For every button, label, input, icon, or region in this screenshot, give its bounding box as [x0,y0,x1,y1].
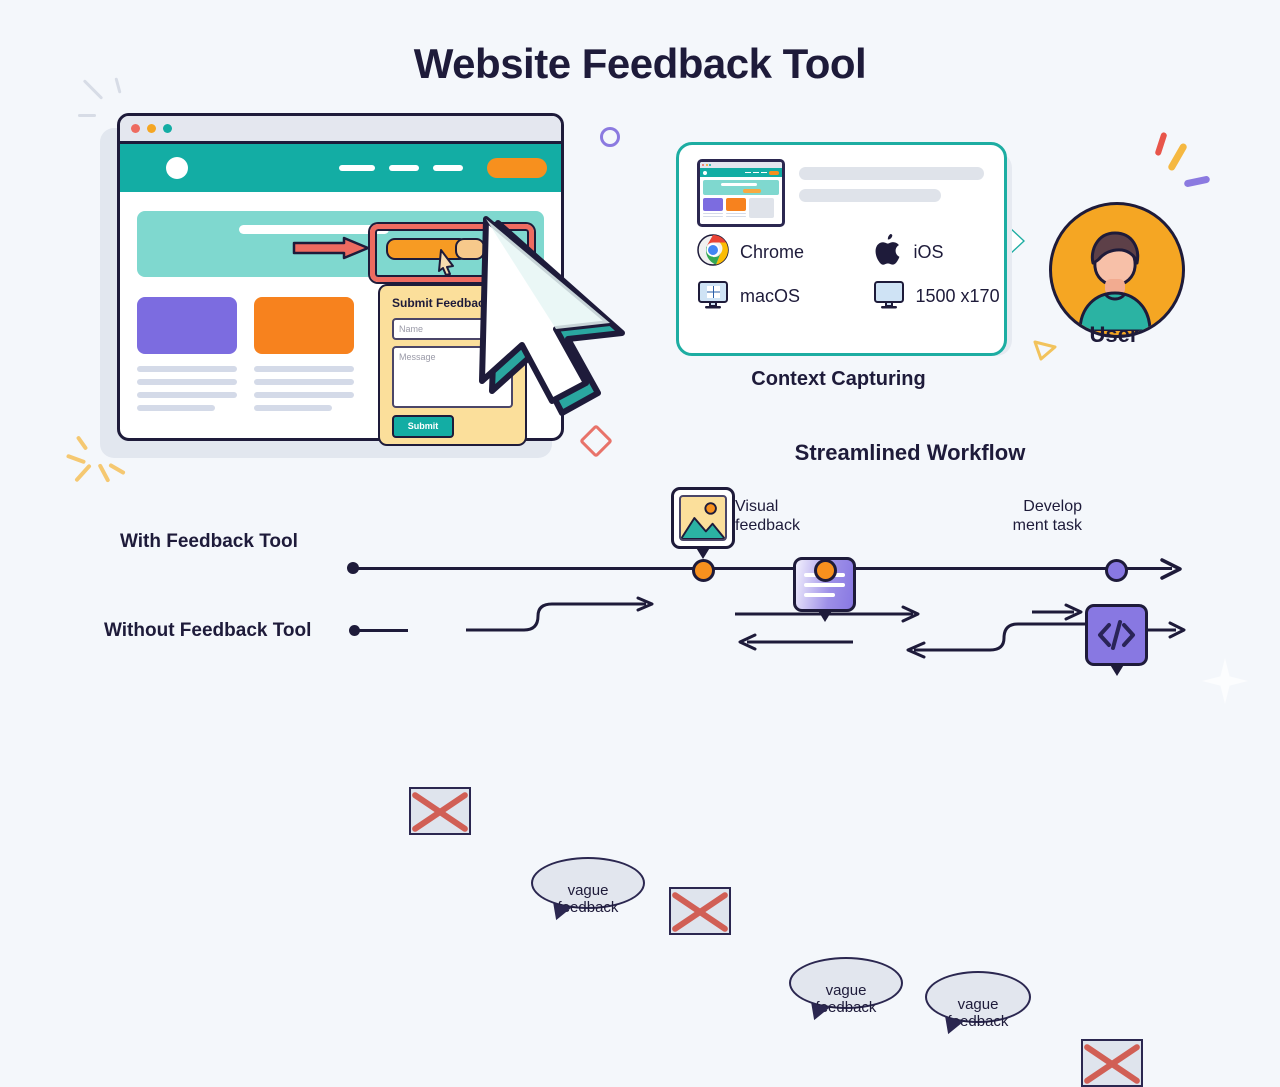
without-tool-arrow-right [735,605,925,628]
context-item-ios: iOS [853,233,1005,272]
thumb-cta [769,171,779,175]
traffic-light-minimize[interactable] [147,124,156,133]
thumb-nav-link [761,172,767,174]
text-line [254,366,354,372]
chrome-icon [697,234,729,271]
text-column [254,366,354,411]
thumb-dot [702,164,704,166]
page-title: Website Feedback Tool [0,40,1280,88]
nav-cta-button[interactable] [487,158,547,178]
image-icon [681,497,725,539]
thumb-line [726,213,746,215]
nav-link[interactable] [433,165,463,171]
context-item-resolution: 1500 x170 [853,278,1005,315]
thumb-card [703,198,723,211]
site-card-orange [254,297,354,354]
without-tool-segment [358,629,408,632]
thumb-hero-pill [743,189,761,193]
thumb-card [726,198,746,211]
hero-headline-placeholder [239,225,389,234]
traffic-light-close[interactable] [131,124,140,133]
development-task-node[interactable] [1085,604,1148,666]
vague-feedback-bubble: vague feedback [789,957,903,1009]
visual-feedback-node[interactable] [671,487,735,549]
context-card-preview-row [679,145,1004,227]
placeholder-bar [799,189,941,202]
context-item-label: macOS [740,286,800,307]
without-tool-arrow-left [735,633,855,656]
context-item-macos: macOS [697,278,849,315]
vague-feedback-bubble: vague feedback [531,857,645,909]
thumb-hero-line [721,183,757,186]
timeline-dot-comment[interactable] [814,559,837,582]
context-capturing-card: Chrome iOS [676,142,1007,356]
without-tool-connector [466,596,666,647]
thumb-nav-link [753,172,759,174]
attention-arrow-icon [292,236,370,260]
text-line [137,392,237,398]
timeline-arrowhead [1160,556,1186,587]
confetti-topright [1150,130,1220,200]
site-card-purple [137,297,237,354]
nav-link[interactable] [339,165,375,171]
timeline-dot-visual-feedback[interactable] [692,559,715,582]
star-decoration [1202,658,1248,704]
thumb-dot [706,164,708,166]
thumb-card [749,198,774,218]
workflow-title: Streamlined Workflow [700,440,1120,466]
text-line [254,405,332,411]
screenshot-thumbnail [697,159,785,227]
thumb-navbar [700,168,782,177]
without-tool-final-arrow [1146,620,1190,645]
apple-icon [873,233,903,272]
text-column [137,366,237,411]
placeholder-bar [799,167,984,180]
text-line [137,379,237,385]
cursor-arrow-icon [440,215,640,430]
context-item-label: 1500 x170 [916,286,1000,307]
thumb-line [726,216,746,218]
bubble-tail [549,903,571,923]
browser-chrome-bar [120,116,561,144]
text-line [137,366,237,372]
site-nav-links [339,158,547,178]
timeline-dot-development-task[interactable] [1105,559,1128,582]
broken-email-icon [669,887,731,935]
development-task-caption: Develop ment task [1000,497,1082,535]
user-label: User [1049,322,1179,348]
context-item-label: iOS [914,242,944,263]
thumb-hero [703,180,779,195]
code-icon [1088,607,1145,663]
bubble-tail [807,1003,829,1023]
broken-email-icon [409,787,471,835]
context-card-caption: Context Capturing [676,368,1001,391]
bubble-tail [941,1017,963,1037]
thumb-nav-links [745,171,779,175]
vague-feedback-bubble: vague feedback [925,971,1031,1023]
windows-icon [697,278,729,315]
with-tool-row-label: With Feedback Tool [120,531,298,553]
thumb-logo [703,171,707,175]
site-logo [166,157,188,179]
text-line [254,379,354,385]
nav-link[interactable] [389,165,419,171]
traffic-light-maximize[interactable] [163,124,172,133]
context-meta-grid: Chrome iOS [679,227,1004,315]
context-item-chrome: Chrome [697,233,849,272]
avatar [1049,202,1185,338]
broken-email-icon [1081,1039,1143,1087]
text-line [254,392,354,398]
thumb-line [703,216,723,218]
without-tool-return-connector [900,620,1090,665]
monitor-icon [873,278,905,315]
visual-feedback-caption: Visual feedback [735,497,797,535]
thumb-dot [709,164,711,166]
context-placeholder-bars [799,159,989,202]
infographic-canvas: Website Feedback Tool [0,0,1280,722]
thumb-line [703,213,723,215]
context-item-label: Chrome [740,242,804,263]
ring-decoration [600,127,620,147]
thumb-card-row [703,198,779,218]
with-tool-timeline [352,567,1172,570]
site-navbar [120,144,561,192]
text-line [137,405,215,411]
without-tool-row-label: Without Feedback Tool [104,620,311,642]
timeline-start-dot [347,562,359,574]
thumb-nav-link [745,172,751,174]
